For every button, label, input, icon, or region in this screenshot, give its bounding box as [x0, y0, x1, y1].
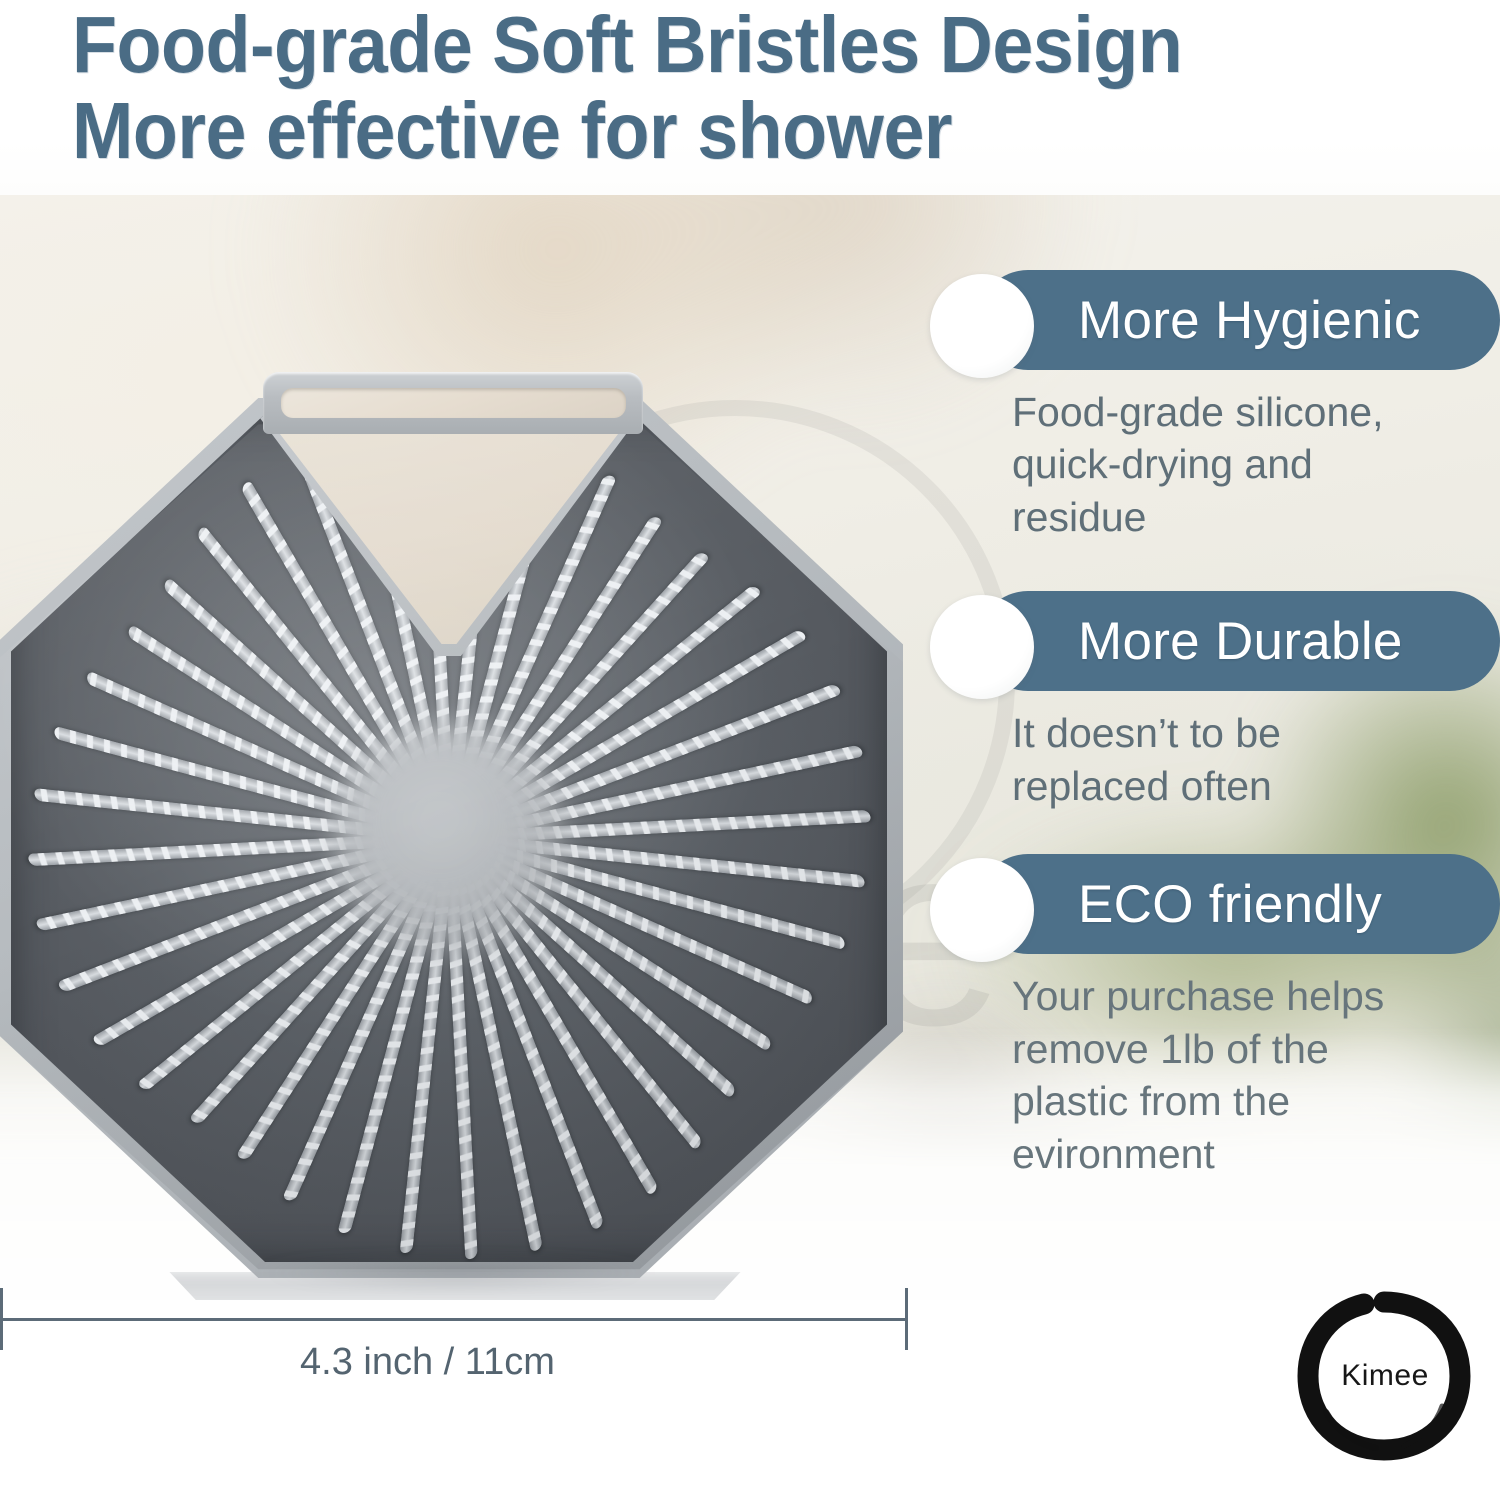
product-center-hub — [334, 723, 564, 953]
feature-item-more-hygienic: More Hygienic Food-grade silicone, quick… — [930, 270, 1500, 543]
headline-line-1: Food-grade Soft Bristles Design — [72, 0, 1182, 89]
product-hang-hole — [281, 388, 626, 418]
dimension-tick-right — [905, 1288, 908, 1350]
white-circle-bullet-icon — [930, 595, 1034, 699]
product-image — [0, 370, 910, 1285]
product-octagon-body — [0, 398, 903, 1278]
dimension-annotation: 4.3 inch / 11cm — [0, 1286, 920, 1406]
product-stage — [0, 370, 910, 1285]
headline-line-2: More effective for shower — [72, 88, 1360, 174]
brand-name-label: Kimee — [1296, 1288, 1472, 1464]
product-inner-dish — [11, 414, 887, 1262]
white-circle-bullet-icon — [930, 858, 1034, 962]
feature-list: More Hygienic Food-grade silicone, quick… — [930, 270, 1500, 1180]
page-title: Food-grade Soft Bristles Design More eff… — [72, 2, 1360, 175]
feature-item-eco-friendly: ECO friendly Your purchase helps remove … — [930, 854, 1500, 1180]
product-infographic-canvas: e Food-grade Soft Bristles Design More e… — [0, 0, 1500, 1500]
dimension-label: 4.3 inch / 11cm — [300, 1341, 555, 1384]
white-circle-bullet-icon — [930, 274, 1034, 378]
feature-body-text: Food-grade silicone, quick-drying and re… — [1012, 386, 1432, 543]
feature-pill-more-hygienic: More Hygienic — [978, 270, 1500, 370]
dimension-line — [0, 1318, 908, 1321]
feature-body-text: Your purchase helps remove 1lb of the pl… — [1012, 970, 1432, 1180]
feature-title: ECO friendly — [1078, 878, 1382, 931]
feature-body-text: It doesn’t to be replaced often — [1012, 707, 1432, 812]
feature-pill-eco-friendly: ECO friendly — [978, 854, 1500, 954]
brand-logo: Kimee — [1296, 1288, 1472, 1464]
feature-title: More Durable — [1078, 615, 1403, 668]
feature-title: More Hygienic — [1078, 294, 1421, 347]
feature-pill-more-durable: More Durable — [978, 591, 1500, 691]
feature-item-more-durable: More Durable It doesn’t to be replaced o… — [930, 591, 1500, 812]
